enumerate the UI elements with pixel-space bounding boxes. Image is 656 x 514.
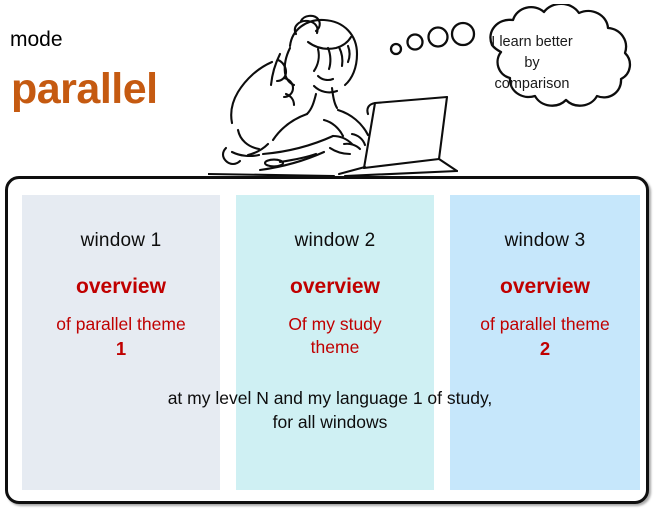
mode-label: mode — [10, 29, 63, 50]
window-panel-2-subtitle-text: Of my study — [242, 313, 428, 336]
window-panel-3-overview-title: overview — [450, 276, 640, 297]
header-area: mode parallel — [0, 0, 656, 176]
thought-bubble-line-1: I learn better — [452, 32, 612, 53]
window-panel-1-subtitle-text: of parallel theme — [28, 313, 214, 336]
parallel-mode-frame: window 1 overview of parallel theme 1 wi… — [5, 176, 649, 504]
window-panel-1-theme-number: 1 — [28, 337, 214, 361]
window-panel-2[interactable]: window 2 overview Of my study theme — [236, 195, 434, 490]
window-panel-3-theme-number: 2 — [456, 337, 634, 361]
window-panel-1-content: window 1 overview of parallel theme 1 — [22, 195, 220, 362]
window-panel-3-content: window 3 overview of parallel theme 2 — [450, 195, 640, 362]
window-panel-3-overview-subtitle: of parallel theme 2 — [450, 313, 640, 362]
window-panel-1-title: window 1 — [22, 231, 220, 250]
window-panel-2-overview-title: overview — [236, 276, 434, 297]
window-panel-2-content: window 2 overview Of my study theme — [236, 195, 434, 359]
window-panel-3-subtitle-text: of parallel theme — [456, 313, 634, 336]
window-panel-1-overview-subtitle: of parallel theme 1 — [22, 313, 220, 362]
window-panel-1-overview-title: overview — [22, 276, 220, 297]
mode-value: parallel — [11, 68, 158, 111]
thought-bubble-line-2: by — [452, 53, 612, 74]
window-panel-3[interactable]: window 3 overview of parallel theme 2 — [450, 195, 640, 490]
thought-bubble-text: I learn better by comparison — [452, 32, 612, 95]
window-panel-1[interactable]: window 1 overview of parallel theme 1 — [22, 195, 220, 490]
window-panel-2-theme-number: theme — [242, 336, 428, 359]
window-panel-2-overview-subtitle: Of my study theme — [236, 313, 434, 359]
window-panel-3-title: window 3 — [450, 231, 640, 250]
window-panel-2-title: window 2 — [236, 231, 434, 250]
thought-bubble-line-3: comparison — [452, 74, 612, 95]
